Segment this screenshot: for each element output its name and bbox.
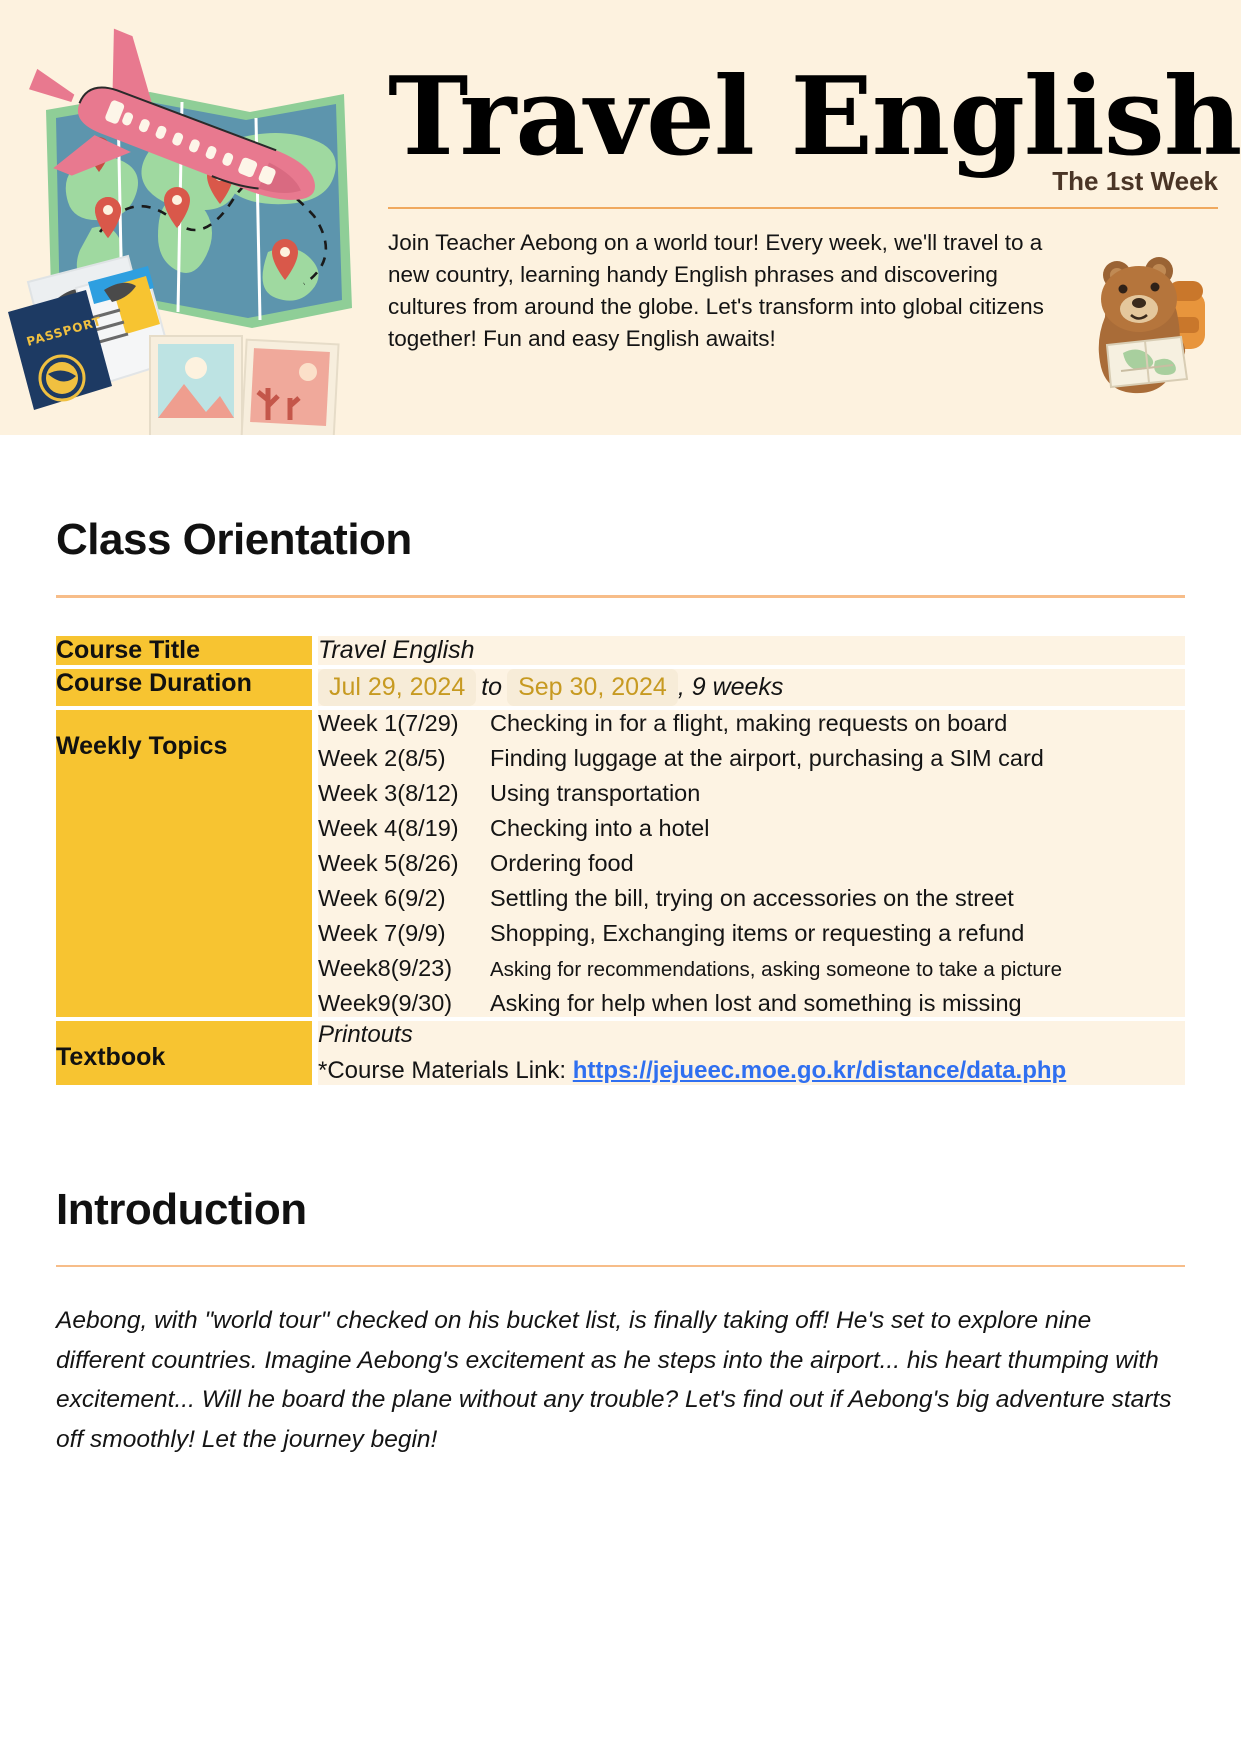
table-row-weekly-topics: Weekly Topics Week 1(7/29)Checking in fo… bbox=[56, 710, 1185, 1017]
duration-line: Jul 29, 2024toSep 30, 2024, 9 weeks bbox=[318, 669, 1185, 706]
end-date-pill: Sep 30, 2024 bbox=[507, 669, 678, 706]
course-materials-link[interactable]: https://jejueec.moe.go.kr/distance/data.… bbox=[573, 1057, 1066, 1084]
row-label-weekly-topics: Weekly Topics bbox=[56, 710, 312, 1017]
table-row-textbook: Textbook Printouts *Course Materials Lin… bbox=[56, 1021, 1185, 1085]
table-row-course-duration: Course Duration Jul 29, 2024toSep 30, 20… bbox=[56, 669, 1185, 706]
textbook-value: Printouts bbox=[318, 1021, 1185, 1049]
week-label: Week 3(8/12) bbox=[318, 780, 490, 807]
week-label: Week 5(8/26) bbox=[318, 850, 490, 877]
introduction-divider bbox=[56, 1265, 1185, 1268]
week-row: Week 5(8/26)Ordering food bbox=[318, 850, 1185, 877]
introduction-paragraph: Aebong, with "world tour" checked on his… bbox=[56, 1301, 1185, 1460]
week-topic: Asking for help when lost and something … bbox=[490, 990, 1022, 1017]
week-label: Week8(9/23) bbox=[318, 955, 490, 982]
photo-cards-icon bbox=[150, 336, 339, 435]
orientation-divider bbox=[56, 595, 1185, 598]
week-label: Week 7(9/9) bbox=[318, 920, 490, 947]
week-topic: Checking in for a flight, making request… bbox=[490, 710, 1007, 737]
week-label: Week9(9/30) bbox=[318, 990, 490, 1017]
row-value-course-duration: Jul 29, 2024toSep 30, 2024, 9 weeks bbox=[318, 669, 1185, 706]
course-materials-line: *Course Materials Link: https://jejueec.… bbox=[318, 1057, 1185, 1085]
header-description: Join Teacher Aebong on a world tour! Eve… bbox=[388, 227, 1078, 355]
orientation-spacer bbox=[56, 435, 1185, 515]
weekly-topics-list: Week 1(7/29)Checking in for a flight, ma… bbox=[318, 710, 1185, 1017]
week-row: Week 7(9/9)Shopping, Exchanging items or… bbox=[318, 920, 1185, 947]
week-topic: Shopping, Exchanging items or requesting… bbox=[490, 920, 1024, 947]
course-orientation-table: Course Title Travel English Course Durat… bbox=[56, 632, 1185, 1089]
course-materials-label: *Course Materials Link: bbox=[318, 1057, 573, 1084]
introduction-heading: Introduction bbox=[56, 1185, 1185, 1235]
week-label: Week 2(8/5) bbox=[318, 745, 490, 772]
week-label: Week 6(9/2) bbox=[318, 885, 490, 912]
start-date-pill: Jul 29, 2024 bbox=[318, 669, 476, 706]
class-orientation-heading: Class Orientation bbox=[56, 515, 1185, 565]
table-row-course-title: Course Title Travel English bbox=[56, 636, 1185, 665]
title-divider bbox=[388, 207, 1218, 209]
course-title-value: Travel English bbox=[318, 636, 475, 664]
duration-length: , 9 weeks bbox=[678, 673, 784, 701]
row-value-weekly-topics: Week 1(7/29)Checking in for a flight, ma… bbox=[318, 710, 1185, 1017]
week-row: Week9(9/30)Asking for help when lost and… bbox=[318, 990, 1185, 1017]
week-topic: Using transportation bbox=[490, 780, 700, 807]
week-row: Week 2(8/5)Finding luggage at the airpor… bbox=[318, 745, 1185, 772]
week-topic: Checking into a hotel bbox=[490, 815, 709, 842]
week-row: Week8(9/23)Asking for recommendations, a… bbox=[318, 955, 1185, 982]
week-label: Week 1(7/29) bbox=[318, 710, 490, 737]
row-label-course-duration: Course Duration bbox=[56, 669, 312, 706]
header-banner: PASSPORT Travel English The 1st Week bbox=[0, 0, 1241, 435]
row-value-course-title: Travel English bbox=[318, 636, 1185, 665]
week-row: Week 4(8/19)Checking into a hotel bbox=[318, 815, 1185, 842]
week-topic: Asking for recommendations, asking someo… bbox=[490, 958, 1062, 982]
introduction-spacer bbox=[56, 1089, 1185, 1185]
row-value-textbook: Printouts *Course Materials Link: https:… bbox=[318, 1021, 1185, 1085]
week-topic: Finding luggage at the airport, purchasi… bbox=[490, 745, 1044, 772]
travel-illustration: PASSPORT bbox=[0, 20, 360, 435]
row-label-textbook: Textbook bbox=[56, 1021, 312, 1085]
week-label: Week 4(8/19) bbox=[318, 815, 490, 842]
week-topic: Settling the bill, trying on accessories… bbox=[490, 885, 1014, 912]
bear-mascot-icon bbox=[1077, 245, 1227, 395]
week-row: Week 3(8/12)Using transportation bbox=[318, 780, 1185, 807]
page-title: Travel English bbox=[388, 62, 1218, 172]
duration-connector: to bbox=[476, 673, 507, 701]
week-row: Week 1(7/29)Checking in for a flight, ma… bbox=[318, 710, 1185, 737]
week-topic: Ordering food bbox=[490, 850, 634, 877]
row-label-course-title: Course Title bbox=[56, 636, 312, 665]
week-row: Week 6(9/2)Settling the bill, trying on … bbox=[318, 885, 1185, 912]
